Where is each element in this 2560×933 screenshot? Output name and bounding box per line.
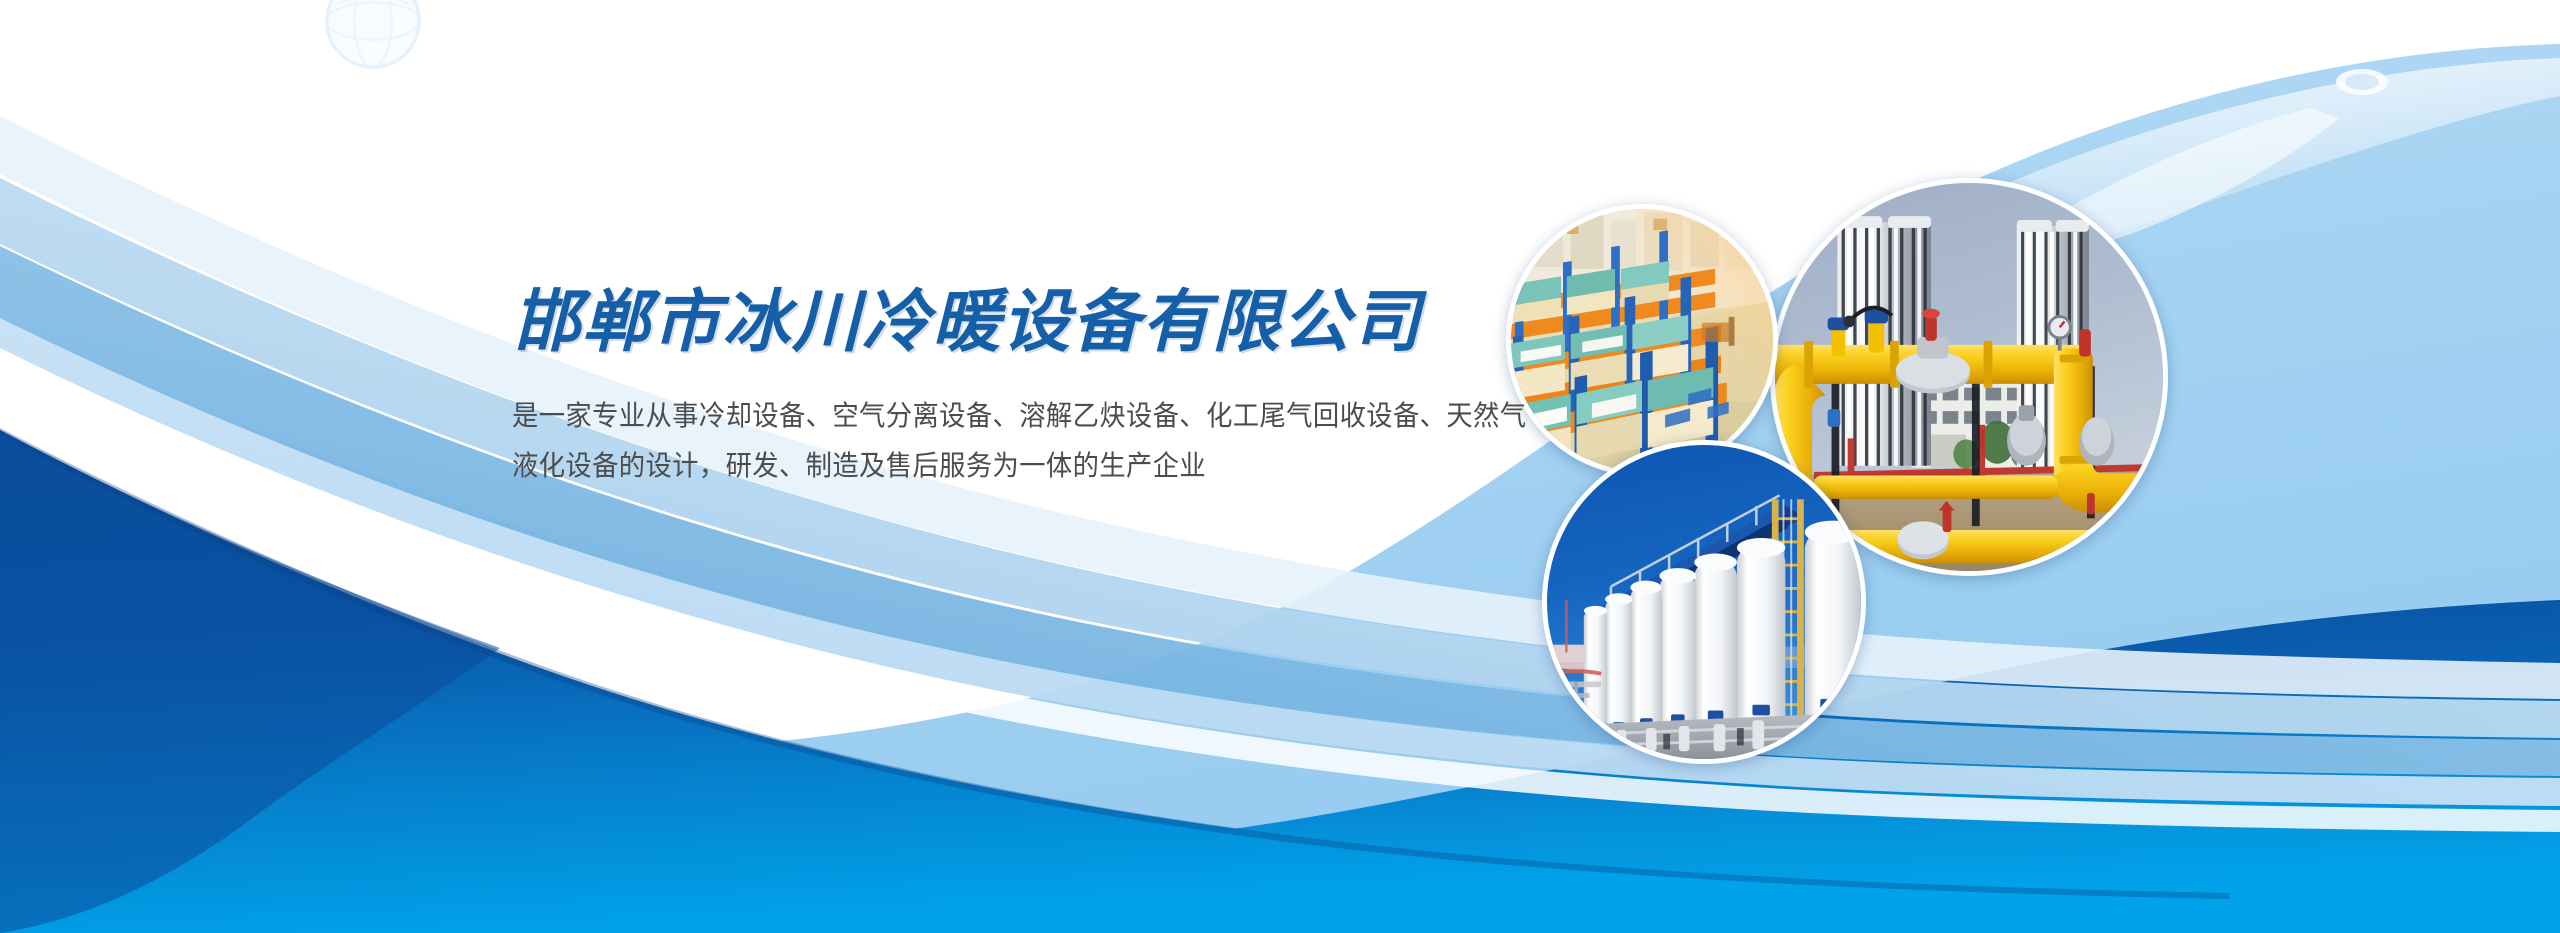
company-description-line-2: 液化设备的设计，研发、制造及售后服务为一体的生产企业 bbox=[512, 452, 1471, 480]
warehouse-photo-illustration bbox=[1511, 209, 1773, 471]
globe-icon bbox=[318, 0, 428, 76]
photo-warehouse-storage-racks bbox=[1506, 204, 1778, 476]
banner-text-block: 邯郸市冰川冷暖设备有限公司 是一家专业从事冷却设备、空气分离设备、溶解乙炔设备、… bbox=[512, 286, 1532, 502]
cryogenic-tanks-photo-illustration bbox=[1547, 445, 1861, 759]
company-banner: 邯郸市冰川冷暖设备有限公司 是一家专业从事冷却设备、空气分离设备、溶解乙炔设备、… bbox=[0, 0, 2560, 933]
company-title: 邯郸市冰川冷暖设备有限公司 bbox=[512, 286, 1532, 358]
company-description-line-1: 是一家专业从事冷却设备、空气分离设备、溶解乙炔设备、化工尾气回收设备、天然气 bbox=[512, 402, 1471, 430]
photo-cryogenic-storage-tanks bbox=[1542, 440, 1866, 764]
